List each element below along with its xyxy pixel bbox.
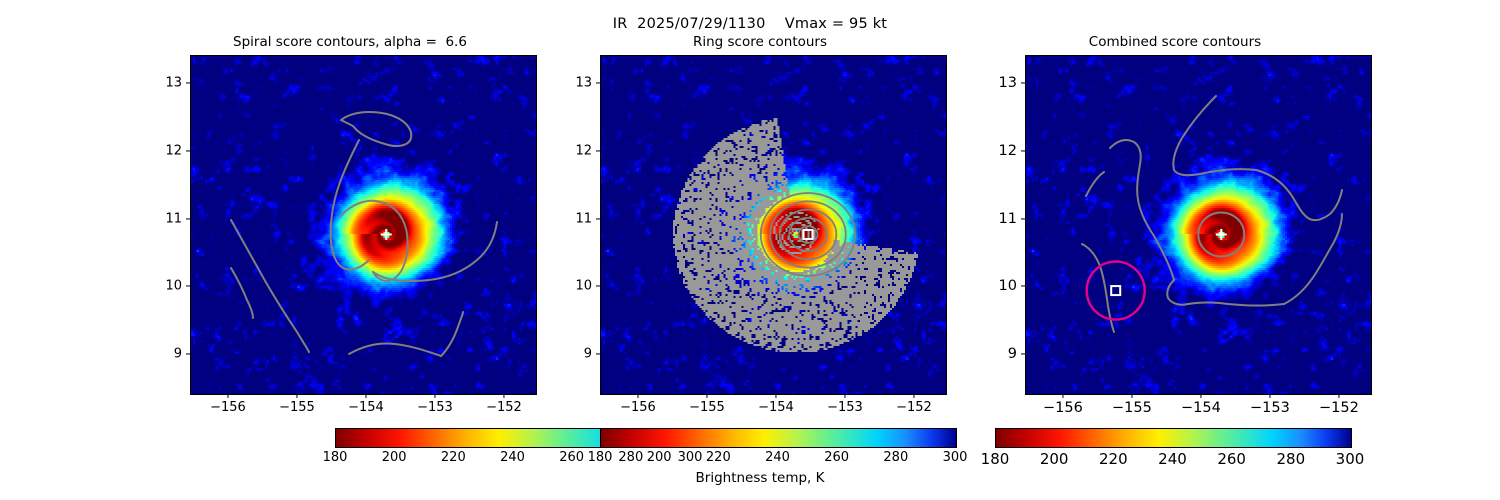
- figure-canvas: IR 2025/07/29/1130 Vmax = 95 kt Spiral s…: [0, 0, 1500, 500]
- colorbar-tick-label: 220: [441, 450, 466, 465]
- contour-line: [373, 222, 497, 281]
- xtick-mark: [1062, 394, 1063, 398]
- xtick-mark: [706, 394, 707, 398]
- xtick-label: −156: [1043, 400, 1083, 416]
- ring-contour: [789, 218, 827, 251]
- ytick-label: 13: [552, 76, 592, 91]
- contour-overlay-combined: [1026, 56, 1371, 394]
- ytick-mark: [1021, 150, 1025, 151]
- contour-line: [1110, 140, 1174, 280]
- ring-contour: [770, 201, 846, 267]
- contour-line: [1173, 96, 1256, 175]
- xtick-label: −155: [279, 400, 315, 415]
- ytick-label: 11: [957, 211, 1017, 227]
- xtick-label: −153: [1250, 400, 1290, 416]
- colorbar-tick-label: 300: [1336, 450, 1365, 468]
- colorbar-tick-label: 220: [706, 450, 731, 465]
- colorbar-tick-label: 180: [323, 450, 348, 465]
- ytick-mark: [596, 286, 600, 287]
- ytick-label: 13: [957, 75, 1017, 91]
- colorbar-tick-label: 300: [943, 450, 968, 465]
- colorbar-tick-label: 240: [1158, 450, 1187, 468]
- panel-combined: Combined score contours 910111213 −156−1…: [965, 0, 1385, 500]
- xtick-label: −153: [417, 400, 453, 415]
- panel-ring: Ring score contours 910111213 −156−155−1…: [560, 0, 960, 500]
- xtick-label: −154: [348, 400, 384, 415]
- storm-center-plus-marker: [1216, 229, 1227, 240]
- contour-line: [441, 312, 463, 356]
- ytick-label: 10: [552, 279, 592, 294]
- combined-magenta-circle: [1087, 262, 1145, 320]
- colorbar-tick-label: 240: [500, 450, 525, 465]
- ytick-mark: [186, 286, 190, 287]
- ytick-label: 13: [142, 76, 182, 91]
- xtick-mark: [503, 394, 504, 398]
- colorbar-tick-label: 260: [824, 450, 849, 465]
- xtick-label: −156: [210, 400, 246, 415]
- xtick-label: −152: [486, 400, 522, 415]
- contour-overlay-spiral: [191, 56, 536, 394]
- xtick-mark: [365, 394, 366, 398]
- ytick-mark: [186, 83, 190, 84]
- colorbar-tick-label: 260: [1217, 450, 1246, 468]
- ytick-label: 10: [142, 279, 182, 294]
- panel-ring-title: Ring score contours: [560, 34, 960, 50]
- contour-overlay-ring: [601, 56, 946, 394]
- xtick-label: −155: [1112, 400, 1152, 416]
- contour-line: [341, 112, 411, 146]
- colorbar-axis-label: Brightness temp, K: [560, 470, 960, 486]
- ytick-mark: [186, 353, 190, 354]
- ytick-label: 12: [552, 143, 592, 158]
- xtick-label: −154: [758, 400, 794, 415]
- ytick-mark: [186, 150, 190, 151]
- xtick-label: −152: [1319, 400, 1359, 416]
- contour-line: [349, 343, 441, 356]
- colorbar-gradient-ring: [601, 429, 956, 447]
- ytick-mark: [596, 353, 600, 354]
- ring-contour: [799, 226, 818, 243]
- xtick-label: −153: [827, 400, 863, 415]
- colorbar-tick-label: 280: [883, 450, 908, 465]
- axes-spiral[interactable]: [190, 55, 537, 395]
- ytick-mark: [1021, 218, 1025, 219]
- contour-line: [1284, 214, 1342, 304]
- contour-line: [1167, 280, 1284, 306]
- combined-square-marker: [1111, 286, 1120, 295]
- ytick-label: 12: [142, 143, 182, 158]
- ytick-mark: [596, 83, 600, 84]
- ytick-label: 10: [957, 278, 1017, 294]
- colorbar-combined: [995, 428, 1352, 448]
- ytick-mark: [1021, 83, 1025, 84]
- xtick-label: −156: [620, 400, 656, 415]
- ytick-label: 9: [957, 346, 1017, 362]
- xtick-mark: [1131, 394, 1132, 398]
- xtick-label: −154: [1181, 400, 1221, 416]
- ytick-mark: [596, 218, 600, 219]
- colorbar-tick-label: 240: [765, 450, 790, 465]
- ytick-mark: [596, 150, 600, 151]
- ytick-label: 11: [142, 211, 182, 226]
- ytick-mark: [186, 218, 190, 219]
- storm-center-plus-marker: [381, 229, 392, 240]
- xtick-label: −155: [689, 400, 725, 415]
- axes-ring[interactable]: [600, 55, 947, 395]
- ytick-label: 12: [957, 143, 1017, 159]
- xtick-mark: [1338, 394, 1339, 398]
- ytick-label: 9: [552, 346, 592, 361]
- ytick-mark: [1021, 353, 1025, 354]
- xtick-mark: [637, 394, 638, 398]
- xtick-mark: [1269, 394, 1270, 398]
- ytick-mark: [1021, 286, 1025, 287]
- contour-line: [331, 140, 369, 270]
- colorbar-tick-label: 180: [588, 450, 613, 465]
- colorbar-tick-label: 280: [1277, 450, 1306, 468]
- xtick-mark: [1200, 394, 1201, 398]
- contour-line: [231, 268, 253, 318]
- panel-spiral-title: Spiral score contours, alpha = 6.6: [150, 34, 550, 50]
- panel-spiral: Spiral score contours, alpha = 6.6 91011…: [150, 0, 550, 500]
- xtick-mark: [844, 394, 845, 398]
- colorbar-tick-label: 200: [647, 450, 672, 465]
- contour-line: [1256, 170, 1342, 220]
- colorbar-tick-label: 200: [1040, 450, 1069, 468]
- xtick-mark: [775, 394, 776, 398]
- contour-line: [231, 220, 309, 352]
- colorbar-tick-label: 180: [981, 450, 1010, 468]
- ring-contour: [761, 193, 856, 276]
- xtick-mark: [434, 394, 435, 398]
- ring-center-square-marker: [804, 230, 813, 239]
- ytick-label: 9: [142, 346, 182, 361]
- contour-line: [1086, 172, 1104, 196]
- xtick-label: −152: [896, 400, 932, 415]
- colorbar-gradient-combined: [996, 429, 1351, 447]
- xtick-mark: [296, 394, 297, 398]
- colorbar-ring: [600, 428, 957, 448]
- colorbar-tick-label: 200: [382, 450, 407, 465]
- xtick-mark: [913, 394, 914, 398]
- panel-combined-title: Combined score contours: [985, 34, 1365, 50]
- xtick-mark: [227, 394, 228, 398]
- colorbar-tick-label: 220: [1099, 450, 1128, 468]
- axes-combined[interactable]: [1025, 55, 1372, 395]
- ytick-label: 11: [552, 211, 592, 226]
